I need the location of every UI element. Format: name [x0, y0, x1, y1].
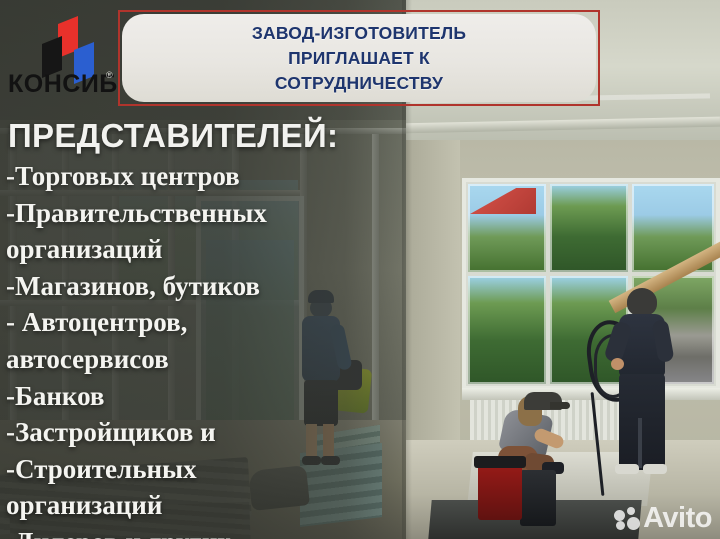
banner-headline: ЗАВОД-ИЗГОТОВИТЕЛЬ ПРИГЛАШАЕТ К СОТРУДНИ… [252, 21, 466, 96]
konsib-logo: КОНСИБ ® [8, 18, 116, 96]
tool-case-dark [520, 470, 556, 526]
avito-watermark: Avito [614, 504, 712, 533]
logo-wordmark: КОНСИБ [8, 70, 112, 99]
banner-panel: ЗАВОД-ИЗГОТОВИТЕЛЬ ПРИГЛАШАЕТ К СОТРУДНИ… [122, 14, 596, 102]
page-title: ПРЕДСТАВИТЕЛЕЙ: [8, 118, 338, 154]
avito-logo-icon [614, 507, 640, 531]
window-pane [550, 184, 628, 272]
worker-standing [613, 288, 669, 478]
poster-image: КОНСИБ ® ЗАВОД-ИЗГОТОВИТЕЛЬ ПРИГЛАШАЕТ К… [0, 0, 720, 539]
avito-wordmark: Avito [643, 504, 712, 533]
tool-case-lid [474, 456, 526, 468]
representatives-list: -Торговых центров -Правительственных орг… [6, 158, 426, 539]
tool-case-red [478, 462, 522, 520]
window-pane [468, 276, 546, 384]
registered-mark-icon: ® [106, 70, 113, 80]
